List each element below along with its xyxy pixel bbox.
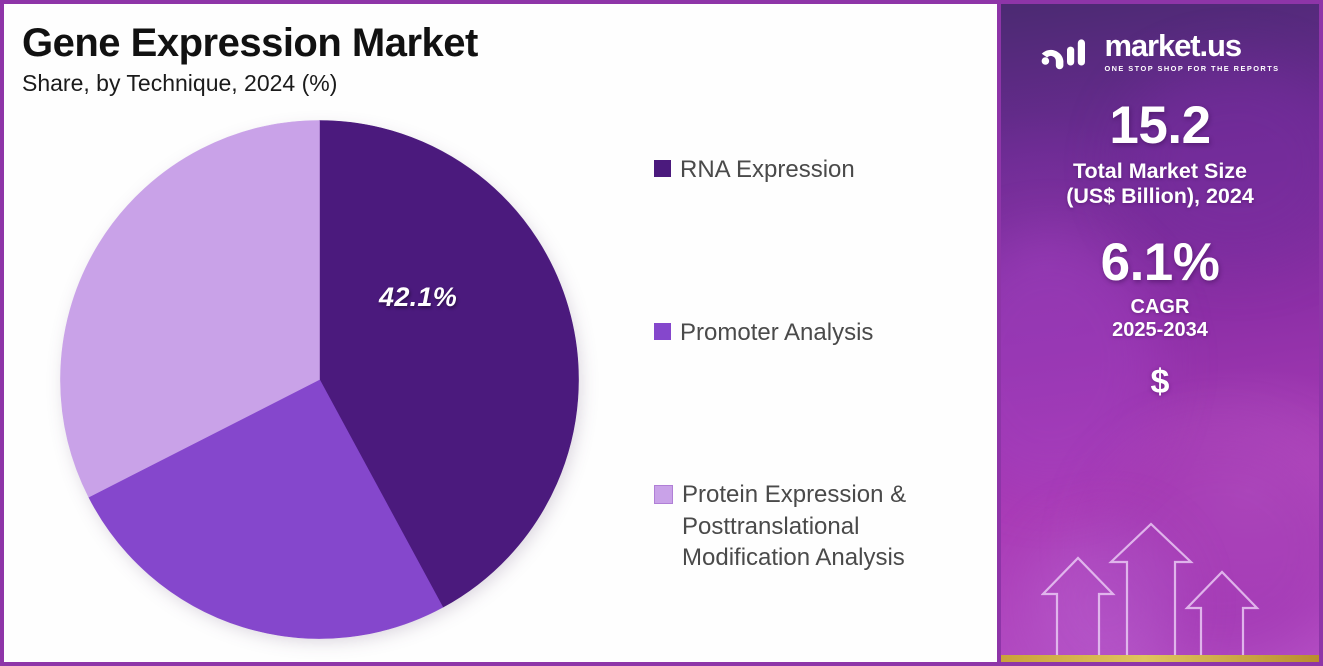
logo-text-block: market.us ONE STOP SHOP FOR THE REPORTS — [1104, 30, 1279, 73]
title-block: Gene Expression Market Share, by Techniq… — [22, 22, 822, 96]
infographic-root: Gene Expression Market Share, by Techniq… — [0, 0, 1323, 666]
legend-swatch-icon — [654, 160, 671, 177]
brand-panel-content: market.us ONE STOP SHOP FOR THE REPORTS … — [1001, 4, 1319, 399]
market-size-stat: 15.2 Total Market Size (US$ Billion), 20… — [1001, 99, 1319, 210]
market-size-caption-line2: (US$ Billion), 2024 — [1001, 184, 1319, 209]
market-size-value: 15.2 — [1001, 99, 1319, 153]
market-size-caption: Total Market Size (US$ Billion), 2024 — [1001, 159, 1319, 210]
legend-item-rna-expression[interactable]: RNA Expression — [654, 154, 855, 186]
legend-swatch-icon — [654, 485, 673, 504]
cagr-caption-line1: CAGR — [1001, 296, 1319, 320]
legend-item-promoter-analysis[interactable]: Promoter Analysis — [654, 317, 873, 349]
chart-panel: Gene Expression Market Share, by Techniq… — [4, 4, 997, 662]
cagr-caption: CAGR 2025-2034 — [1001, 296, 1319, 343]
cagr-value: 6.1% — [1001, 236, 1319, 290]
pie-slice-label-rna: 42.1% — [379, 282, 457, 313]
brand-summary-panel: market.us ONE STOP SHOP FOR THE REPORTS … — [1001, 4, 1319, 662]
growth-arrows-icon — [1041, 522, 1281, 662]
pie-chart-svg — [57, 117, 582, 642]
panel-bottom-accent-strip — [1001, 655, 1319, 662]
panel-divider — [997, 4, 1001, 662]
arrow-up-icon — [1111, 524, 1191, 662]
arrow-up-icon — [1043, 558, 1113, 662]
brand-logo[interactable]: market.us ONE STOP SHOP FOR THE REPORTS — [1001, 30, 1319, 73]
cagr-stat: 6.1% CAGR 2025-2034 — [1001, 236, 1319, 343]
market-us-logo-icon — [1040, 34, 1094, 70]
legend-item-label: Protein Expression & Posttranslational M… — [682, 479, 984, 574]
market-size-caption-line1: Total Market Size — [1001, 159, 1319, 184]
dollar-icon: $ — [1001, 365, 1319, 399]
legend-swatch-icon — [654, 323, 671, 340]
logo-wordmark: market.us — [1104, 30, 1279, 61]
cagr-caption-line2: 2025-2034 — [1001, 319, 1319, 343]
page-title: Gene Expression Market — [22, 22, 822, 64]
pie-chart: 42.1% — [57, 117, 582, 642]
legend-item-protein-expression[interactable]: Protein Expression & Posttranslational M… — [654, 479, 984, 574]
legend-item-label: Promoter Analysis — [680, 317, 873, 349]
arrow-up-icon — [1187, 572, 1257, 662]
page-subtitle: Share, by Technique, 2024 (%) — [22, 71, 822, 96]
legend-item-label: RNA Expression — [680, 154, 855, 186]
logo-tagline: ONE STOP SHOP FOR THE REPORTS — [1104, 64, 1279, 73]
